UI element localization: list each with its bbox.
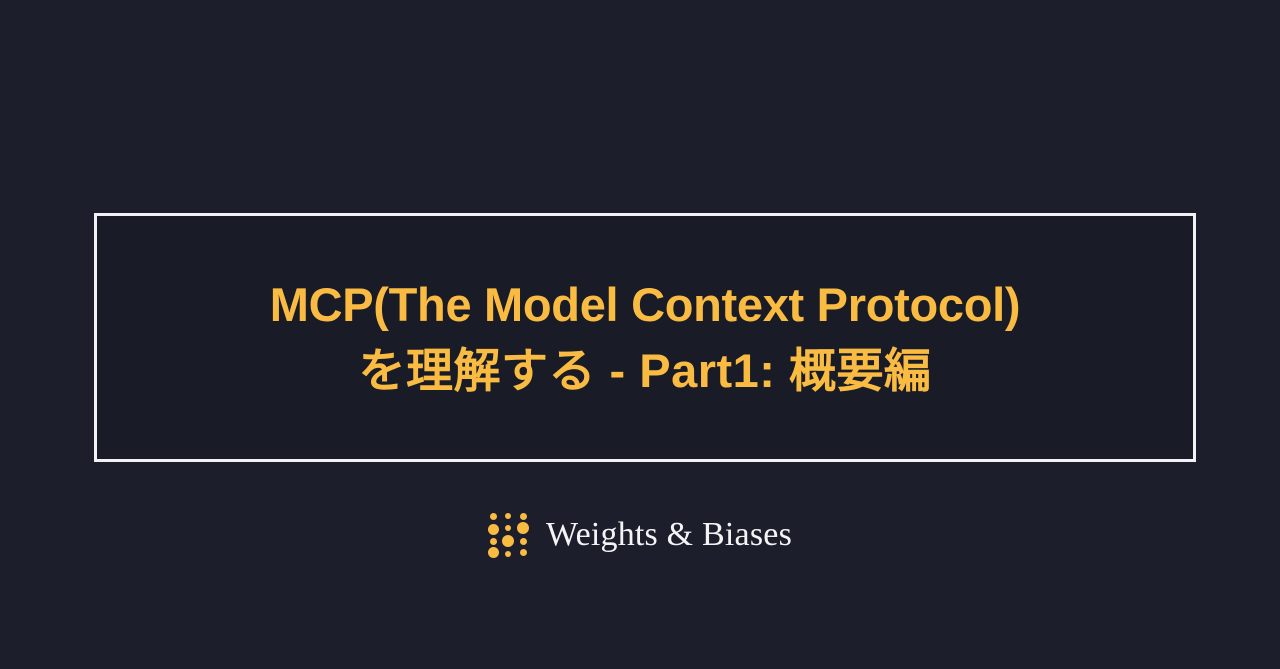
logo-dot: [505, 525, 511, 531]
logo-dot: [520, 549, 527, 556]
logo-dot: [517, 522, 529, 534]
logo-dot: [520, 513, 527, 520]
logo-dot: [520, 538, 527, 545]
logo-dot: [488, 524, 499, 535]
page-title: MCP(The Model Context Protocol) を理解する - …: [97, 272, 1193, 404]
brand-wordmark: Weights & Biases: [546, 515, 792, 555]
title-frame: MCP(The Model Context Protocol) を理解する - …: [94, 213, 1196, 462]
logo-dot: [490, 538, 497, 545]
title-slide: MCP(The Model Context Protocol) を理解する - …: [0, 0, 1280, 669]
logo-dot: [490, 513, 497, 520]
weights-and-biases-dots-logo-icon: [488, 512, 530, 558]
logo-dot: [505, 513, 511, 519]
logo-dot: [488, 547, 499, 558]
brand-lockup: Weights & Biases: [0, 507, 1280, 563]
page-title-line-1: MCP(The Model Context Protocol): [115, 272, 1175, 338]
page-title-line-2: を理解する - Part1: 概要編: [115, 338, 1175, 404]
logo-dot: [502, 535, 514, 547]
logo-dot: [505, 551, 511, 557]
